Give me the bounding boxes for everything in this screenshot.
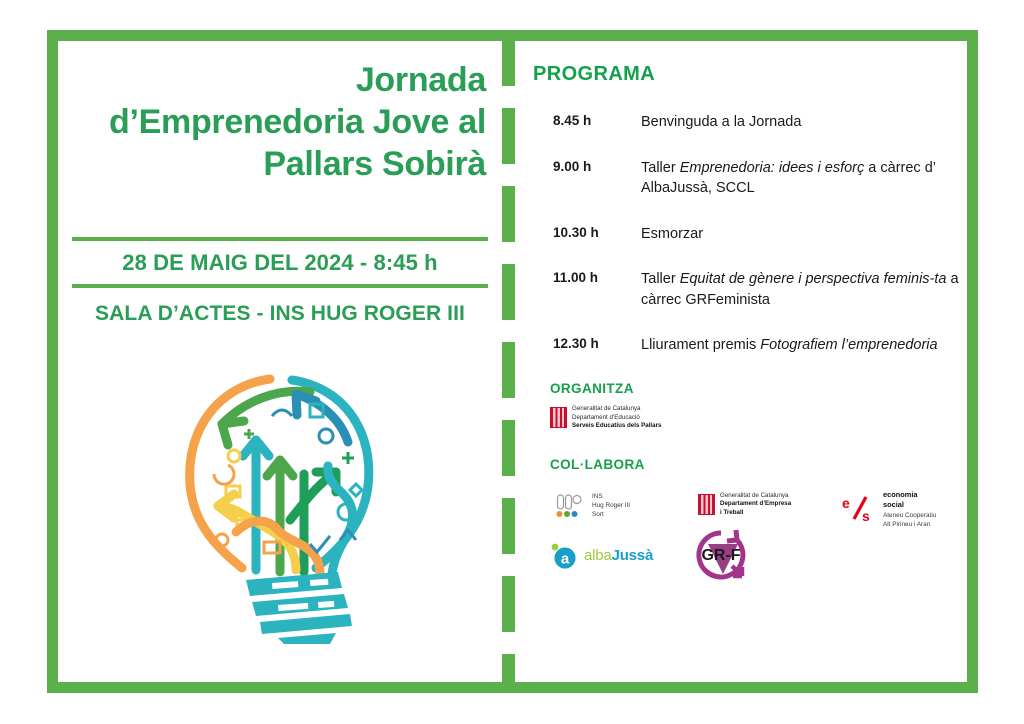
ins-logo-text: INS Hug Roger III Sort <box>592 492 630 520</box>
alba-text-dark: Jussà <box>612 547 654 564</box>
economia-social-logo: e s economia social Ateneu Cooperatiu Al… <box>842 490 936 529</box>
generalitat-empresa-treball-logo: Generalitat de Catalunya Departament d’E… <box>698 492 791 518</box>
event-date: 28 DE MAIG DEL 2024 - 8:45 h <box>58 241 502 284</box>
es-line-3: Ateneu Cooperatiu <box>883 511 936 520</box>
programa-heading: PROGRAMA <box>533 63 978 86</box>
organitza-logos: Generalitat de Catalunya Departament d’E… <box>550 405 978 431</box>
title-line-2: d’Emprenedoria Jove al <box>58 101 486 143</box>
lightbulb-illustration <box>58 344 502 644</box>
generalitat-educacio-logo: Generalitat de Catalunya Departament d’E… <box>550 405 978 431</box>
page-title: Jornada d’Emprenedoria Jove al Pallars S… <box>58 59 502 185</box>
ins-mark-icon <box>556 494 586 518</box>
generalitat-empresa-text: Generalitat de Catalunya Departament d’E… <box>720 492 791 518</box>
ins-line-2: Hug Roger III <box>592 501 630 510</box>
program-text: Esmorzar <box>641 226 703 242</box>
alba-text-light: alba <box>584 547 612 564</box>
albajussa-wordmark: albaJussà <box>584 547 653 564</box>
gencat-edu-line-3: Serveis Educatius dels Pallars <box>572 422 661 431</box>
grf-label: GR-F <box>701 547 740 564</box>
albajussa-logo: a albaJussà <box>550 542 653 570</box>
organitza-heading: ORGANITZA <box>550 381 978 396</box>
gencat-emp-line-1: Generalitat de Catalunya <box>720 492 791 501</box>
economia-social-mark-icon: e s <box>842 495 876 523</box>
left-column: Jornada d’Emprenedoria Jove al Pallars S… <box>58 41 502 682</box>
program-time: 12.30 h <box>553 335 641 351</box>
title-line-3: Pallars Sobirà <box>58 143 486 185</box>
collabora-heading: COL·LABORA <box>550 457 978 472</box>
ins-glyph-icon <box>556 494 586 518</box>
program-row: 11.00 hTaller Equitat de gènere i perspe… <box>553 269 978 310</box>
es-line-1: economia <box>883 490 936 501</box>
program-title-italic: Emprenedoria: idees i esforç <box>680 160 865 176</box>
economia-social-text: economia social Ateneu Cooperatiu Alt Pi… <box>883 490 936 529</box>
es-line-2: social <box>883 500 936 511</box>
program-text: Taller <box>641 160 680 176</box>
ins-line-1: INS <box>592 492 630 501</box>
collabora-logos: INS Hug Roger III Sort Generalitat de Ca… <box>550 484 978 584</box>
program-row: 10.30 hEsmorzar <box>553 224 978 245</box>
es-line-4: Alt Pirineu i Aran <box>883 520 936 529</box>
grfeminista-mark-icon: GR-F <box>692 526 750 584</box>
program-time: 8.45 h <box>553 112 641 128</box>
program-schedule: 8.45 hBenvinguda a la Jornada9.00 hTalle… <box>553 112 978 356</box>
poster-canvas: Jornada d’Emprenedoria Jove al Pallars S… <box>0 0 1024 724</box>
program-text: Taller <box>641 271 680 287</box>
program-description: Esmorzar <box>641 224 978 245</box>
program-time: 10.30 h <box>553 224 641 240</box>
column-divider <box>502 30 515 693</box>
albajussa-mark-icon: a <box>550 542 580 570</box>
generalitat-shield-icon-2 <box>698 494 715 515</box>
program-row: 12.30 hLliurament premis Fotografiem l’e… <box>553 335 978 356</box>
program-description: Lliurament premis Fotografiem l’emprened… <box>641 335 978 356</box>
svg-text:s: s <box>862 508 870 523</box>
program-description: Benvinguda a la Jornada <box>641 112 978 133</box>
lightbulb-ideas-icon <box>160 344 400 644</box>
generalitat-educacio-text: Generalitat de Catalunya Departament d’E… <box>572 405 661 431</box>
program-title-italic: Equitat de gènere i perspectiva feminis-… <box>680 271 947 287</box>
grfeminista-logo: GR-F <box>692 526 750 589</box>
program-text: Lliurament premis <box>641 337 760 353</box>
svg-text:a: a <box>561 550 570 567</box>
ins-hug-roger-iii-logo: INS Hug Roger III Sort <box>556 492 630 520</box>
ins-line-3: Sort <box>592 510 630 519</box>
title-line-1: Jornada <box>58 59 486 101</box>
gencat-edu-line-1: Generalitat de Catalunya <box>572 405 661 414</box>
program-title-italic: Fotografiem l’emprenedoria <box>760 337 937 353</box>
program-description: Taller Equitat de gènere i perspectiva f… <box>641 269 978 310</box>
gencat-edu-line-2: Departament d’Educació <box>572 414 661 423</box>
program-text: Benvinguda a la Jornada <box>641 114 801 130</box>
svg-text:e: e <box>842 495 850 511</box>
program-description: Taller Emprenedoria: idees i esforç a cà… <box>641 158 978 199</box>
gencat-emp-line-3: i Treball <box>720 509 791 518</box>
gencat-emp-line-2: Departament d’Empresa <box>720 500 791 509</box>
program-time: 9.00 h <box>553 158 641 174</box>
program-time: 11.00 h <box>553 269 641 285</box>
event-venue: SALA D’ACTES - INS HUG ROGER III <box>58 288 502 326</box>
program-row: 9.00 hTaller Emprenedoria: idees i esfor… <box>553 158 978 199</box>
right-column: PROGRAMA 8.45 hBenvinguda a la Jornada9.… <box>528 41 978 682</box>
program-row: 8.45 hBenvinguda a la Jornada <box>553 112 978 133</box>
generalitat-shield-icon <box>550 407 567 428</box>
